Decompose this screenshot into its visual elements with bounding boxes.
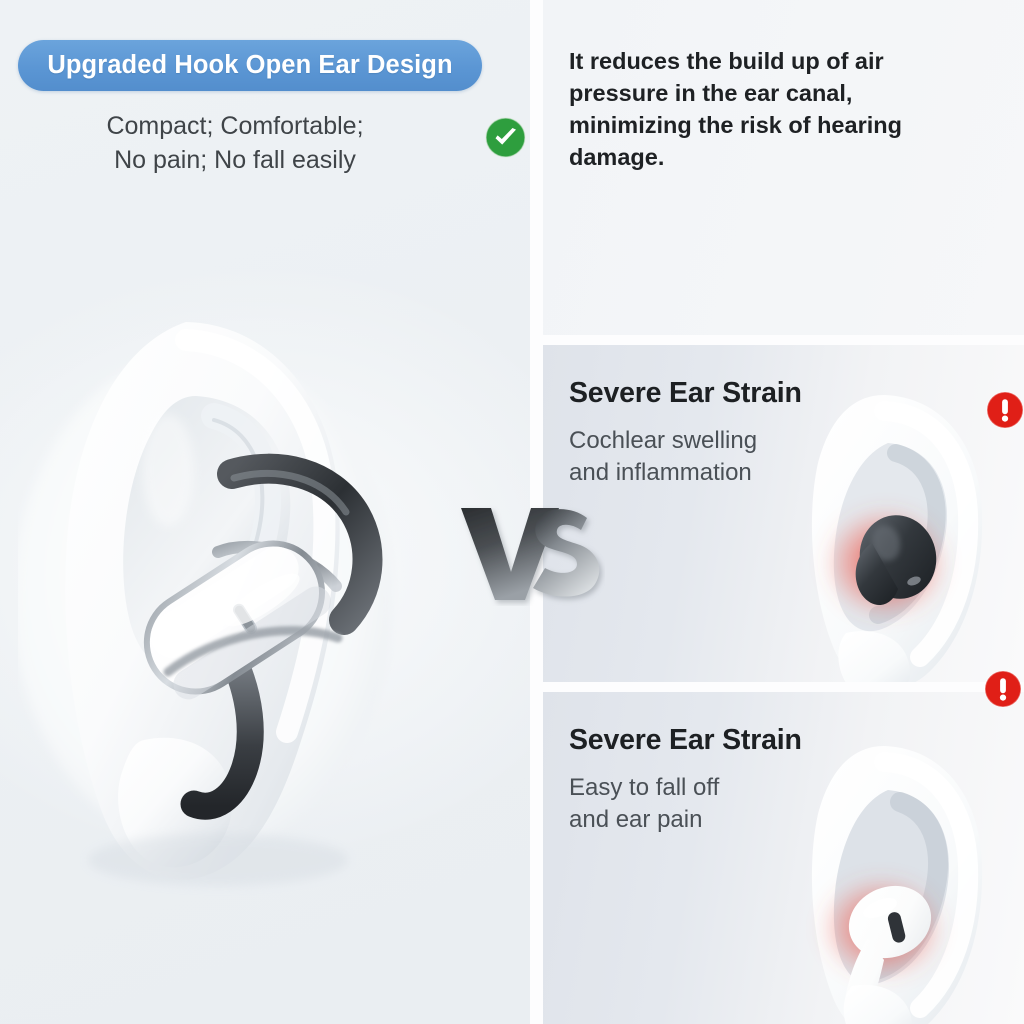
panel-benefit: It reduces the build up of air pressure …: [543, 0, 1024, 335]
panel-strain-falloff: Severe Ear Strain Easy to fall off and e…: [543, 692, 1024, 1024]
panel-benefit-line-4: damage.: [569, 142, 969, 174]
infographic-canvas: Upgraded Hook Open Ear Design Compact; C…: [0, 0, 1024, 1024]
right-column: It reduces the build up of air pressure …: [543, 0, 1024, 1024]
panel-strain-falloff-sub-line-2: and ear pain: [569, 804, 719, 836]
horizontal-divider-2: [543, 682, 1024, 692]
panel-benefit-body: It reduces the build up of air pressure …: [569, 46, 969, 174]
panel-strain-falloff-heading: Severe Ear Strain: [569, 724, 802, 757]
panel-strain-falloff-sub: Easy to fall off and ear pain: [569, 772, 719, 836]
panel-benefit-line-2: pressure in the ear canal,: [569, 78, 969, 110]
vs-badge: VS: [455, 494, 605, 606]
panel-strain-cochlear-heading: Severe Ear Strain: [569, 377, 802, 410]
left-subtitle-line-1: Compact; Comfortable;: [0, 110, 470, 144]
red-exclamation-circle-icon: [986, 391, 1024, 429]
green-check-circle-icon: [485, 117, 526, 158]
left-product-panel: Upgraded Hook Open Ear Design Compact; C…: [0, 0, 530, 1024]
open-ear-earbud-hero-image: [18, 300, 438, 900]
ear-inflammation-white-bud-image: [768, 732, 1024, 1024]
red-exclamation-circle-icon-2: [984, 670, 1022, 708]
horizontal-divider-1: [543, 335, 1024, 345]
upgraded-design-badge: Upgraded Hook Open Ear Design: [18, 40, 482, 91]
panel-strain-cochlear-sub-line-1: Cochlear swelling: [569, 425, 757, 457]
panel-strain-falloff-sub-line-1: Easy to fall off: [569, 772, 719, 804]
upgraded-design-badge-label: Upgraded Hook Open Ear Design: [47, 51, 452, 80]
left-subtitle-line-2: No pain; No fall easily: [0, 144, 470, 178]
left-subtitle: Compact; Comfortable; No pain; No fall e…: [0, 110, 470, 177]
panel-benefit-line-1: It reduces the build up of air: [569, 46, 969, 78]
panel-strain-cochlear-sub-line-2: and inflammation: [569, 457, 757, 489]
panel-benefit-line-3: minimizing the risk of hearing: [569, 110, 969, 142]
panel-strain-cochlear-sub: Cochlear swelling and inflammation: [569, 425, 757, 489]
panel-strain-cochlear: Severe Ear Strain Cochlear swelling and …: [543, 345, 1024, 682]
